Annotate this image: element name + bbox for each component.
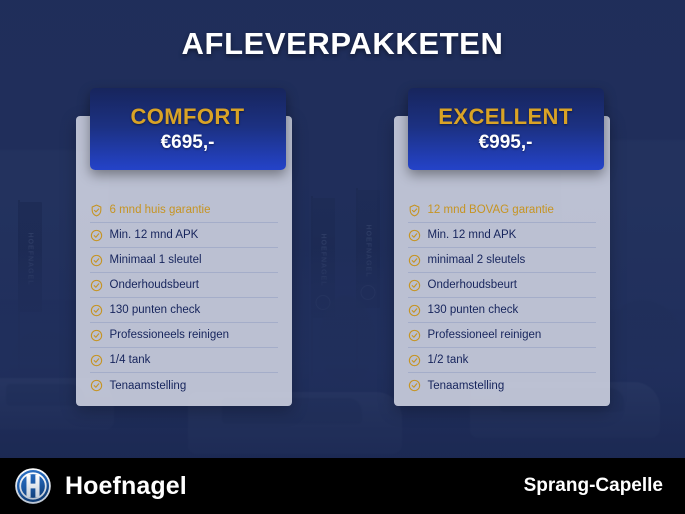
feature-item: Minimaal 1 sleutel	[90, 248, 278, 273]
feature-item: 12 mnd BOVAG garantie	[408, 198, 596, 223]
feature-label: Tenaamstelling	[110, 380, 187, 392]
package-feature-list: 6 mnd huis garantie Min. 12 mnd APK Mini…	[76, 198, 292, 398]
circle-check-icon	[90, 254, 103, 267]
package-card-comfort[interactable]: COMFORT €695,- 6 mnd huis garantie Min. …	[76, 88, 292, 428]
feature-label: Onderhoudsbeurt	[110, 279, 200, 291]
package-card-excellent[interactable]: EXCELLENT €995,- 12 mnd BOVAG garantie M…	[394, 88, 610, 428]
circle-check-icon	[408, 379, 421, 392]
feature-item: Tenaamstelling	[408, 373, 596, 398]
feature-label: Min. 12 mnd APK	[110, 229, 199, 241]
circle-check-icon	[408, 354, 421, 367]
feature-label: 12 mnd BOVAG garantie	[428, 204, 554, 216]
feature-label: Tenaamstelling	[428, 380, 505, 392]
footer-bar: Hoefnagel Sprang-Capelle	[0, 458, 685, 514]
feature-item: Min. 12 mnd APK	[90, 223, 278, 248]
feature-label: 130 punten check	[428, 304, 519, 316]
feature-item: 6 mnd huis garantie	[90, 198, 278, 223]
feature-item: Tenaamstelling	[90, 373, 278, 398]
feature-label: 6 mnd huis garantie	[110, 204, 211, 216]
circle-check-icon	[408, 229, 421, 242]
page-title: AFLEVERPAKKETEN	[0, 26, 685, 62]
shield-check-icon	[90, 204, 103, 217]
slide-root: HOEFNAGEL HOEFNAGEL HOEFNAGEL AFLEVERPAK…	[0, 0, 685, 514]
package-header: EXCELLENT €995,-	[408, 88, 604, 170]
package-price: €695,-	[161, 132, 215, 154]
feature-item: Professioneels reinigen	[90, 323, 278, 348]
package-name: EXCELLENT	[438, 104, 572, 130]
circle-check-icon	[408, 304, 421, 317]
feature-label: Minimaal 1 sleutel	[110, 254, 202, 266]
brand-block[interactable]: Hoefnagel	[14, 467, 187, 505]
circle-check-icon	[90, 229, 103, 242]
feature-item: 1/4 tank	[90, 348, 278, 373]
feature-item: 130 punten check	[408, 298, 596, 323]
feature-label: Min. 12 mnd APK	[428, 229, 517, 241]
circle-check-icon	[408, 254, 421, 267]
package-list: COMFORT €695,- 6 mnd huis garantie Min. …	[0, 88, 685, 428]
feature-label: 1/2 tank	[428, 354, 469, 366]
package-feature-list: 12 mnd BOVAG garantie Min. 12 mnd APK mi…	[394, 198, 610, 398]
circle-check-icon	[90, 354, 103, 367]
feature-item: minimaal 2 sleutels	[408, 248, 596, 273]
brand-name: Hoefnagel	[65, 472, 187, 501]
feature-label: 130 punten check	[110, 304, 201, 316]
feature-label: Onderhoudsbeurt	[428, 279, 518, 291]
circle-check-icon	[408, 279, 421, 292]
circle-check-icon	[90, 379, 103, 392]
circle-check-icon	[90, 304, 103, 317]
feature-label: Professioneels reinigen	[110, 329, 230, 341]
feature-item: 1/2 tank	[408, 348, 596, 373]
feature-label: Professioneel reinigen	[428, 329, 542, 341]
circle-check-icon	[90, 329, 103, 342]
package-name: COMFORT	[130, 104, 244, 130]
feature-label: 1/4 tank	[110, 354, 151, 366]
feature-item: Professioneel reinigen	[408, 323, 596, 348]
feature-item: Min. 12 mnd APK	[408, 223, 596, 248]
feature-label: minimaal 2 sleutels	[428, 254, 526, 266]
feature-item: 130 punten check	[90, 298, 278, 323]
package-price: €995,-	[479, 132, 533, 154]
feature-item: Onderhoudsbeurt	[90, 273, 278, 298]
circle-check-icon	[90, 279, 103, 292]
feature-item: Onderhoudsbeurt	[408, 273, 596, 298]
circle-check-icon	[408, 329, 421, 342]
shield-check-icon	[408, 204, 421, 217]
hoefnagel-h-logo-icon	[14, 467, 52, 505]
location-label: Sprang-Capelle	[524, 475, 663, 497]
package-header: COMFORT €695,-	[90, 88, 286, 170]
